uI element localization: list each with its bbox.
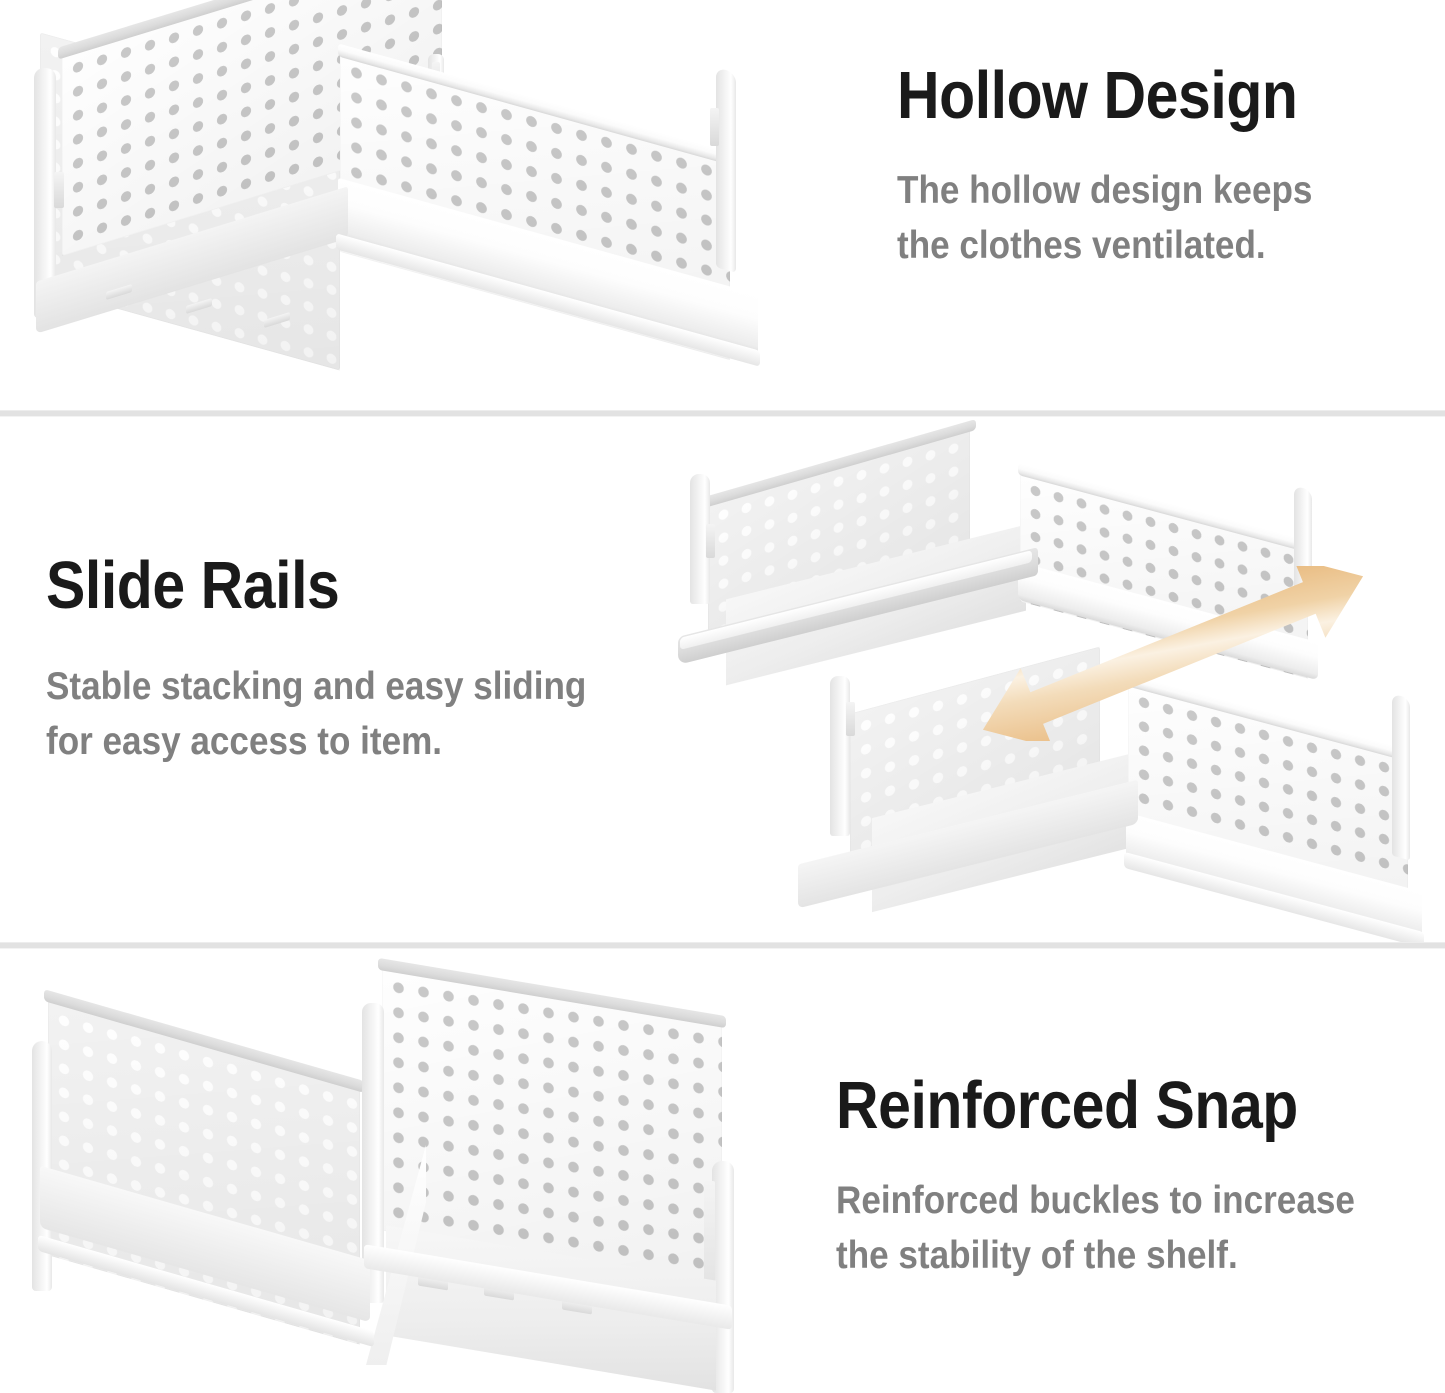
product-image-hollow-design bbox=[10, 0, 800, 412]
panel-title-hollow-design: Hollow Design bbox=[897, 62, 1390, 129]
description-line: The hollow design keeps bbox=[897, 163, 1419, 218]
description-line: the stability of the shelf. bbox=[836, 1228, 1445, 1283]
lower-basket-right-post bbox=[1392, 694, 1410, 861]
feature-panel-reinforced-snap: Reinforced Snap Reinforced buckles to in… bbox=[0, 949, 1445, 1358]
panel-description-slide-rails: Stable stacking and easy sliding for eas… bbox=[46, 659, 703, 770]
infographic-page: Hollow Design The hollow design keeps th… bbox=[0, 0, 1445, 1358]
feature-text-reinforced-snap: Reinforced Snap Reinforced buckles to in… bbox=[836, 1072, 1445, 1284]
feature-panel-hollow-design: Hollow Design The hollow design keeps th… bbox=[0, 0, 1445, 412]
product-image-slide-rails bbox=[672, 452, 1445, 922]
description-line: Reinforced buckles to increase bbox=[836, 1173, 1445, 1228]
description-line: the clothes ventilated. bbox=[897, 218, 1419, 273]
upper-basket-right-post bbox=[1294, 486, 1312, 617]
panel-description-reinforced-snap: Reinforced buckles to increase the stabi… bbox=[836, 1173, 1445, 1284]
panel-divider-1 bbox=[0, 410, 1445, 417]
lower-basket-left-post bbox=[830, 676, 850, 836]
panel-title-slide-rails: Slide Rails bbox=[46, 552, 662, 619]
panel-title-reinforced-snap: Reinforced Snap bbox=[836, 1072, 1382, 1139]
product-image-reinforced-snap bbox=[14, 985, 794, 1357]
lower-basket-left-hinge-tab bbox=[846, 702, 855, 736]
description-line: for easy access to item. bbox=[46, 714, 703, 769]
panel-description-hollow-design: The hollow design keeps the clothes vent… bbox=[897, 163, 1419, 274]
basket-right-corner-post bbox=[716, 67, 736, 273]
basket-left-hinge-tab bbox=[54, 172, 64, 208]
basket-right-hinge-tab bbox=[710, 108, 719, 146]
feature-text-hollow-design: Hollow Design The hollow design keeps th… bbox=[897, 62, 1445, 274]
description-line: Stable stacking and easy sliding bbox=[46, 659, 703, 714]
upper-basket-left-hinge-tab bbox=[706, 524, 715, 558]
feature-text-slide-rails: Slide Rails Stable stacking and easy sli… bbox=[46, 552, 746, 770]
panel-divider-2 bbox=[0, 942, 1445, 949]
